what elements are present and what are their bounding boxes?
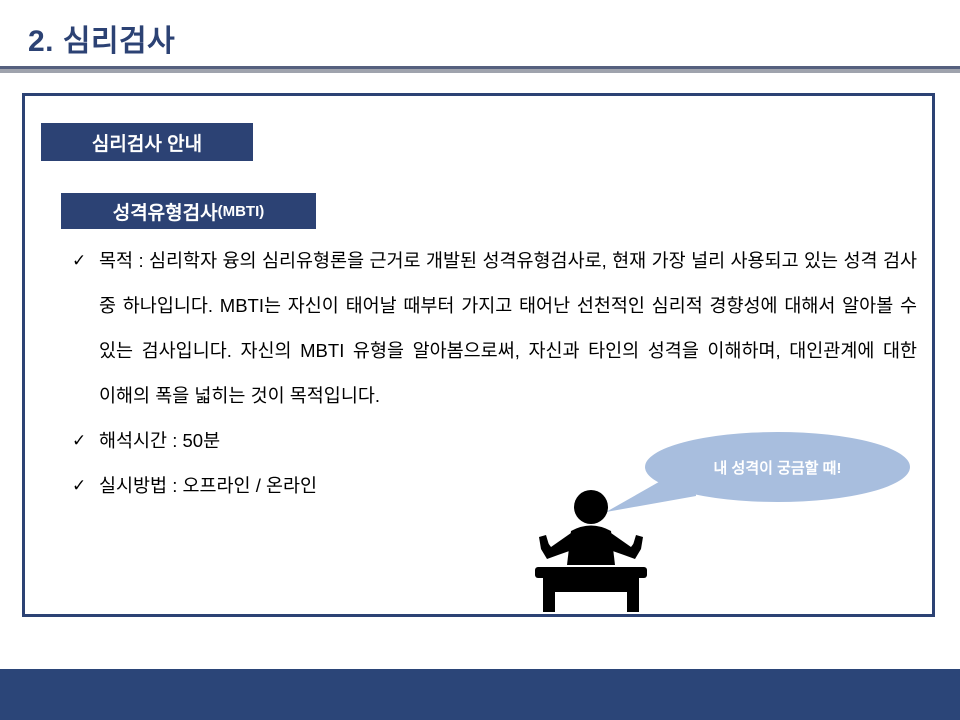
section-badge-mbti-suffix: (MBTI) (218, 203, 265, 220)
section-badge-guide-label: 심리검사 안내 (92, 129, 202, 156)
title-divider-light-line (0, 69, 960, 73)
footer-bar (0, 669, 960, 720)
person-at-desk-pictogram-icon (527, 487, 657, 612)
section-badge-guide: 심리검사 안내 (41, 123, 253, 161)
list-item-text: 목적 : 심리학자 융의 심리유형론을 근거로 개발된 성격유형검사로, 현재 … (99, 238, 917, 418)
section-badge-mbti: 성격유형검사(MBTI) (61, 193, 316, 229)
content-panel: 심리검사 안내 성격유형검사(MBTI) ✓ 목적 : 심리학자 융의 심리유형… (22, 93, 935, 617)
list-item: ✓ 목적 : 심리학자 융의 심리유형론을 근거로 개발된 성격유형검사로, 현… (67, 238, 917, 418)
title-divider (0, 66, 960, 73)
section-badge-mbti-label: 성격유형검사 (113, 198, 218, 225)
check-icon: ✓ (72, 463, 90, 508)
check-icon: ✓ (72, 238, 90, 283)
speech-bubble: 내 성격이 궁금할 때! (645, 432, 910, 502)
page-title: 2. 심리검사 (28, 16, 175, 60)
speech-bubble-text: 내 성격이 궁금할 때! (714, 457, 842, 478)
check-icon: ✓ (72, 418, 90, 463)
